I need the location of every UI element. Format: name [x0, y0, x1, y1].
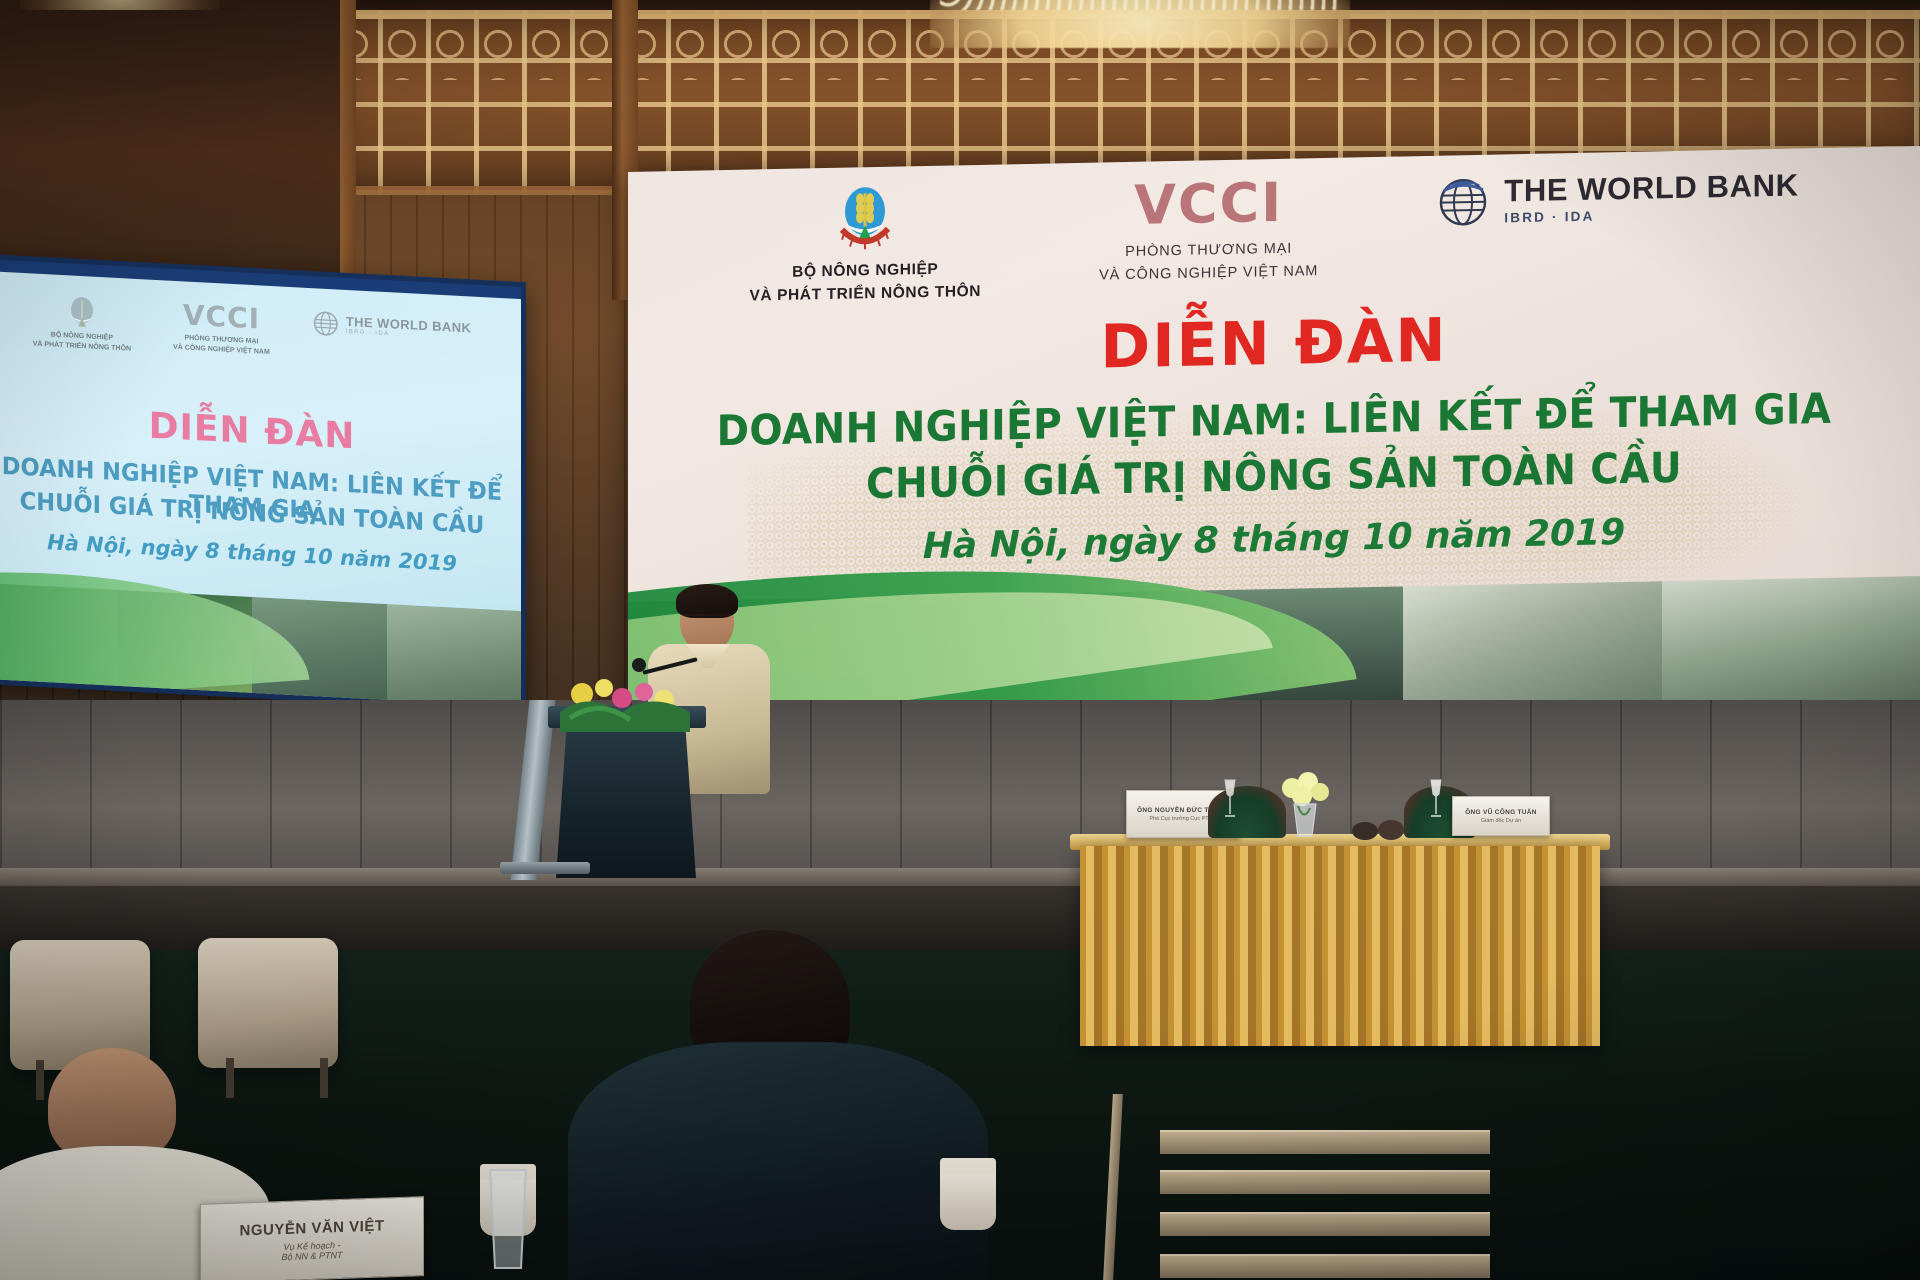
world-bank-sub: IBRD · IDA: [1504, 204, 1798, 225]
stage-edge: [0, 868, 1920, 888]
glasses-icon: [684, 614, 730, 625]
logo-caption-line2: VÀ PHÁT TRIỂN NÔNG THÔN: [749, 280, 981, 308]
stage-stairs: [1160, 1130, 1490, 1280]
screen-green-swoosh: [0, 550, 310, 705]
foreground-cup-second: [940, 1158, 996, 1230]
audience-chair-second: [198, 938, 338, 1068]
chair-leg-fourth: [320, 1058, 328, 1098]
placard-name-second: ÔNG VŨ CÔNG TUẤN: [1465, 809, 1537, 816]
podium-flower-arrangement-icon: [560, 672, 690, 732]
backdrop-banner: BỘ NÔNG NGHIỆP VÀ PHÁT TRIỂN NÔNG THÔN V…: [628, 146, 1920, 732]
banner-date-line: Hà Nội, ngày 8 tháng 10 năm 2019: [628, 506, 1920, 573]
banner-logo-row: BỘ NÔNG NGHIỆP VÀ PHÁT TRIỂN NÔNG THÔN V…: [628, 164, 1920, 310]
world-bank-globe-icon: [1436, 173, 1491, 229]
water-glass-icon: [476, 1150, 540, 1280]
logo-vcci: VCCI PHÒNG THƯƠNG MẠI VÀ CÔNG NGHIỆP VIỆ…: [1099, 176, 1318, 288]
screen-logo-row: BỘ NÔNG NGHIỆP VÀ PHÁT TRIỂN NÔNG THÔN V…: [0, 291, 521, 375]
chandelier-secondary-icon: [20, 0, 220, 10]
wine-glass-icon: [1222, 778, 1238, 820]
vcci-wordmark-icon: VCCI: [1134, 177, 1283, 231]
table-flower-vase-icon: [1272, 770, 1336, 840]
banner-headline: DIỄN ĐÀN: [628, 296, 1920, 392]
ministry-agriculture-emblem-icon: [836, 185, 894, 252]
table-item-dish: [1352, 822, 1378, 840]
microphone-head-icon: [632, 658, 646, 672]
wine-glass-icon-second: [1428, 778, 1444, 820]
screen-logo-vcci: VCCI PHÒNG THƯƠNG MẠI VÀ CÔNG NGHIỆP VIỆ…: [173, 301, 270, 358]
audience-person-body-second: [568, 1042, 988, 1280]
projection-screen: BỘ NÔNG NGHIỆP VÀ PHÁT TRIỂN NÔNG THÔN V…: [0, 271, 521, 707]
projection-screen-frame: BỘ NÔNG NGHIỆP VÀ PHÁT TRIỂN NÔNG THÔN V…: [0, 254, 526, 713]
screen-logo-ministry: BỘ NÔNG NGHIỆP VÀ PHÁT TRIỂN NÔNG THÔN: [33, 294, 131, 355]
table-item-dish-second: [1378, 820, 1404, 840]
chair-leg-third: [226, 1058, 234, 1098]
screen-logo-world-bank: THE WORLD BANK IBRD · IDA: [312, 308, 471, 344]
world-bank-name: THE WORLD BANK: [1504, 169, 1798, 206]
screen-ministry-emblem-icon: [66, 295, 98, 333]
conference-photo-scene: BỘ NÔNG NGHIỆP VÀ PHÁT TRIỂN NÔNG THÔN V…: [0, 0, 1920, 1280]
chair-leg: [36, 1060, 44, 1100]
nameplate-org: Bộ NN & PTNT: [281, 1249, 342, 1261]
logo-world-bank: THE WORLD BANK IBRD · IDA: [1436, 167, 1798, 229]
table-placard-second: ÔNG VŨ CÔNG TUẤN Giám đốc Dự án: [1452, 796, 1550, 836]
placard-title: Phó Cục trưởng Cục PTDN: [1149, 816, 1216, 822]
logo-ministry-agriculture: BỘ NÔNG NGHIỆP VÀ PHÁT TRIỂN NÔNG THÔN: [749, 183, 981, 308]
podium: [556, 718, 696, 878]
placard-title-second: Giám đốc Dự án: [1481, 818, 1521, 824]
presidium-table-skirt: [1080, 846, 1600, 1046]
podium-base: [500, 862, 590, 874]
vcci-caption-line2: VÀ CÔNG NGHIỆP VIỆT NAM: [1099, 261, 1318, 289]
nameplate-name: NGUYỄN VĂN VIỆT: [239, 1217, 384, 1239]
screen-world-bank-globe-icon: [312, 308, 340, 337]
screen-vcci-wordmark-icon: VCCI: [183, 301, 260, 333]
foreground-nameplate: NGUYỄN VĂN VIỆT Vụ Kế hoạch - Bộ NN & PT…: [200, 1196, 424, 1280]
wall-dark-left: [0, 0, 340, 300]
chandelier-icon: [930, 0, 1350, 48]
